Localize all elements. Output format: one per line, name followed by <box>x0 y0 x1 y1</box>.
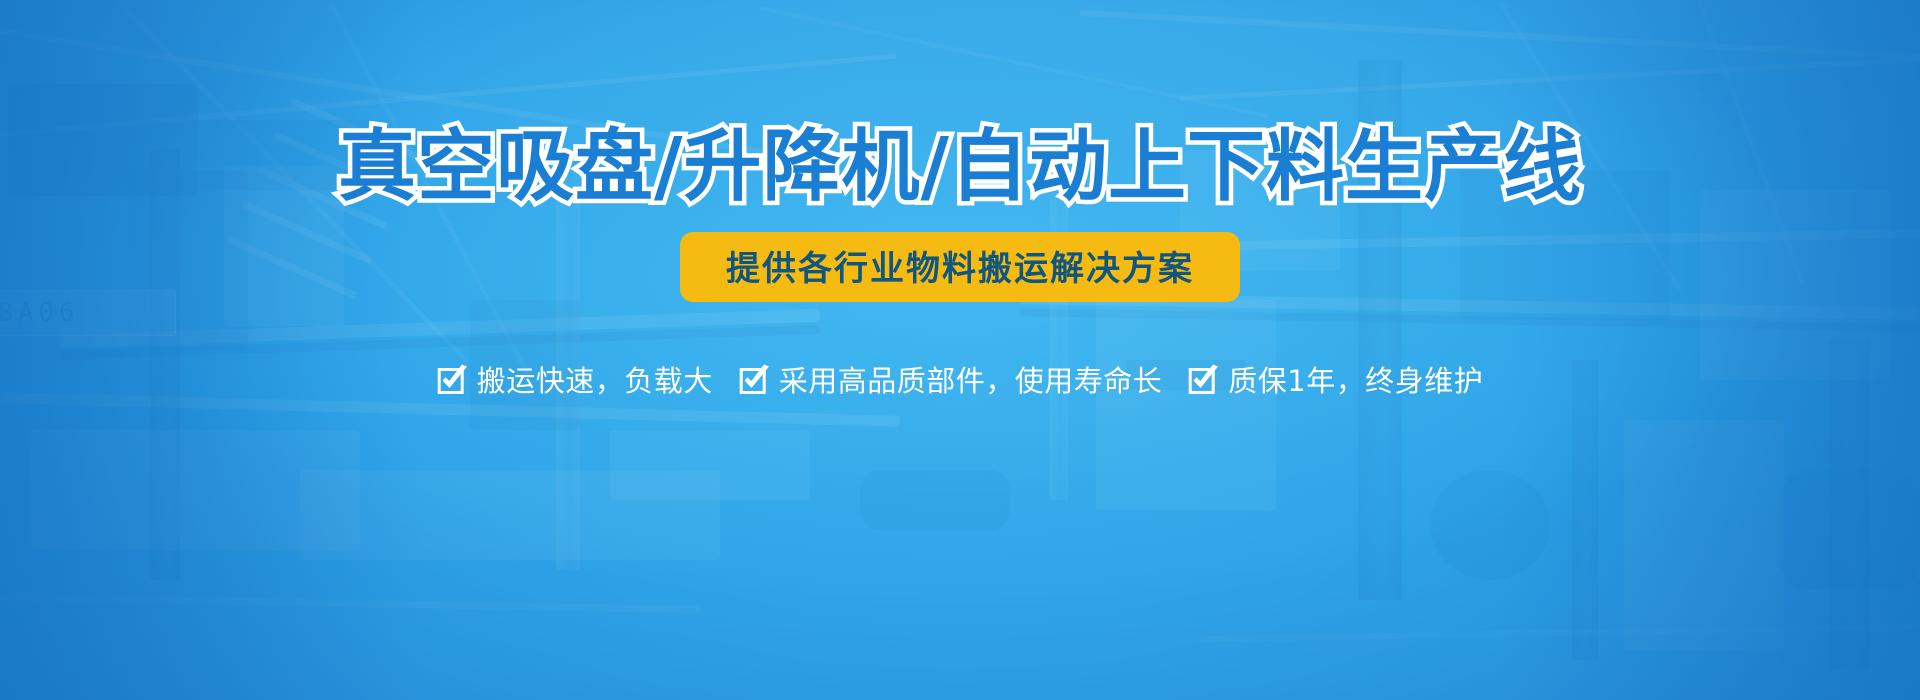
feature-label: 搬运快速，负载大 <box>477 358 713 400</box>
feature-item: 搬运快速，负载大 <box>437 358 713 400</box>
check-square-icon <box>739 364 770 395</box>
banner-content: 真空吸盘/升降机/自动上下料生产线 提供各行业物料搬运解决方案 搬运快速，负载大 <box>0 0 1920 700</box>
feature-item: 质保1年，终身维护 <box>1188 358 1483 400</box>
feature-label: 质保1年，终身维护 <box>1228 358 1483 400</box>
promo-banner: BA06 真空吸盘/升降机/自动上下料生产线 提供各行业物料搬运解决方案 搬运快… <box>0 0 1920 700</box>
feature-label: 采用高品质部件，使用寿命长 <box>779 358 1163 400</box>
banner-subtitle-badge: 提供各行业物料搬运解决方案 <box>680 232 1240 302</box>
feature-item: 采用高品质部件，使用寿命长 <box>739 358 1163 400</box>
check-square-icon <box>1188 364 1219 395</box>
feature-list: 搬运快速，负载大 采用高品质部件，使用寿命长 <box>437 358 1483 400</box>
banner-headline: 真空吸盘/升降机/自动上下料生产线 <box>338 128 1582 206</box>
check-square-icon <box>437 364 468 395</box>
